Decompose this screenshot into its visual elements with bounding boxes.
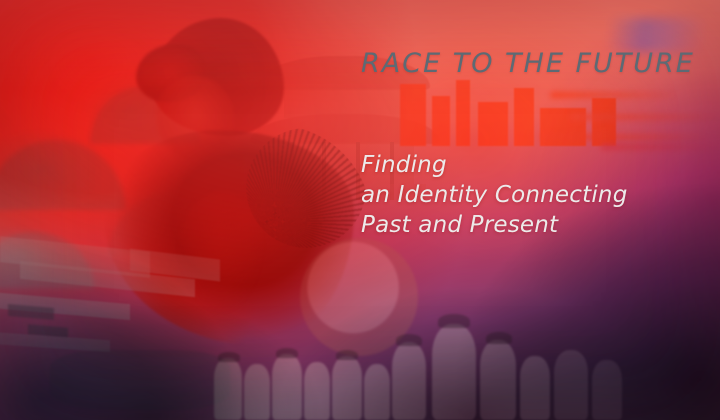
blue-streak-overlay [420, 18, 720, 52]
subtitle-line-2: an Identity Connecting [361, 180, 628, 210]
modern-complex-image [0, 240, 270, 420]
poster-banner: RACE TO THE FUTURE Finding an Identity C… [0, 0, 720, 420]
cityscape-image [400, 78, 720, 160]
folding-fan-icon [246, 128, 366, 248]
traditional-drum-image [300, 238, 418, 356]
poster-subtitle: Finding an Identity Connecting Past and … [361, 150, 628, 240]
subtitle-line-3: Past and Present [361, 210, 628, 240]
ink-landscape-image [0, 0, 280, 290]
poster-title: RACE TO THE FUTURE [361, 48, 695, 79]
subtitle-line-1: Finding [361, 150, 628, 180]
performers-image [210, 280, 640, 420]
